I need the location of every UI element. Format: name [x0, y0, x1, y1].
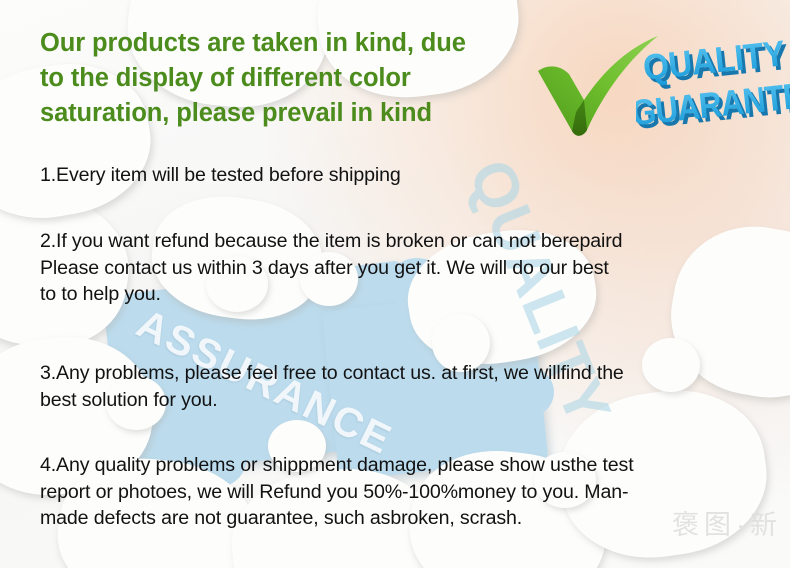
- headline-line: saturation, please prevail in kind: [40, 96, 570, 131]
- term-line: to to help you.: [40, 281, 756, 308]
- term-paragraph: 3.Any problems, please feel free to cont…: [40, 360, 756, 413]
- headline-line: Our products are taken in kind, due: [40, 26, 570, 61]
- term-line: Please contact us within 3 days after yo…: [40, 255, 756, 282]
- headline-line: to the display of different color: [40, 61, 570, 96]
- term-line: best solution for you.: [40, 387, 756, 414]
- term-line: 1.Every item will be tested before shipp…: [40, 162, 756, 189]
- promo-banner: ASSURANCE QUALITY 褒图·新 Our products are …: [0, 0, 790, 568]
- term-paragraph: 1.Every item will be tested before shipp…: [40, 162, 756, 189]
- term-line: 3.Any problems, please feel free to cont…: [40, 360, 756, 387]
- quality-guarantee-text: QUALITY QUALITY GUARANTEE GUARANTEE: [636, 30, 790, 136]
- quality-guarantee-badge: QUALITY QUALITY GUARANTEE GUARANTEE: [528, 14, 790, 142]
- term-paragraph: 4.Any quality problems or shippment dama…: [40, 452, 756, 532]
- term-line: made defects are not guarantee, such asb…: [40, 505, 756, 532]
- term-paragraph: 2.If you want refund because the item is…: [40, 228, 756, 308]
- term-line: 2.If you want refund because the item is…: [40, 228, 756, 255]
- page-title: Our products are taken in kind, due to t…: [40, 26, 570, 131]
- term-line: 4.Any quality problems or shippment dama…: [40, 452, 756, 479]
- content-layer: Our products are taken in kind, due to t…: [0, 0, 790, 568]
- term-line: report or photoes, we will Refund you 50…: [40, 479, 756, 506]
